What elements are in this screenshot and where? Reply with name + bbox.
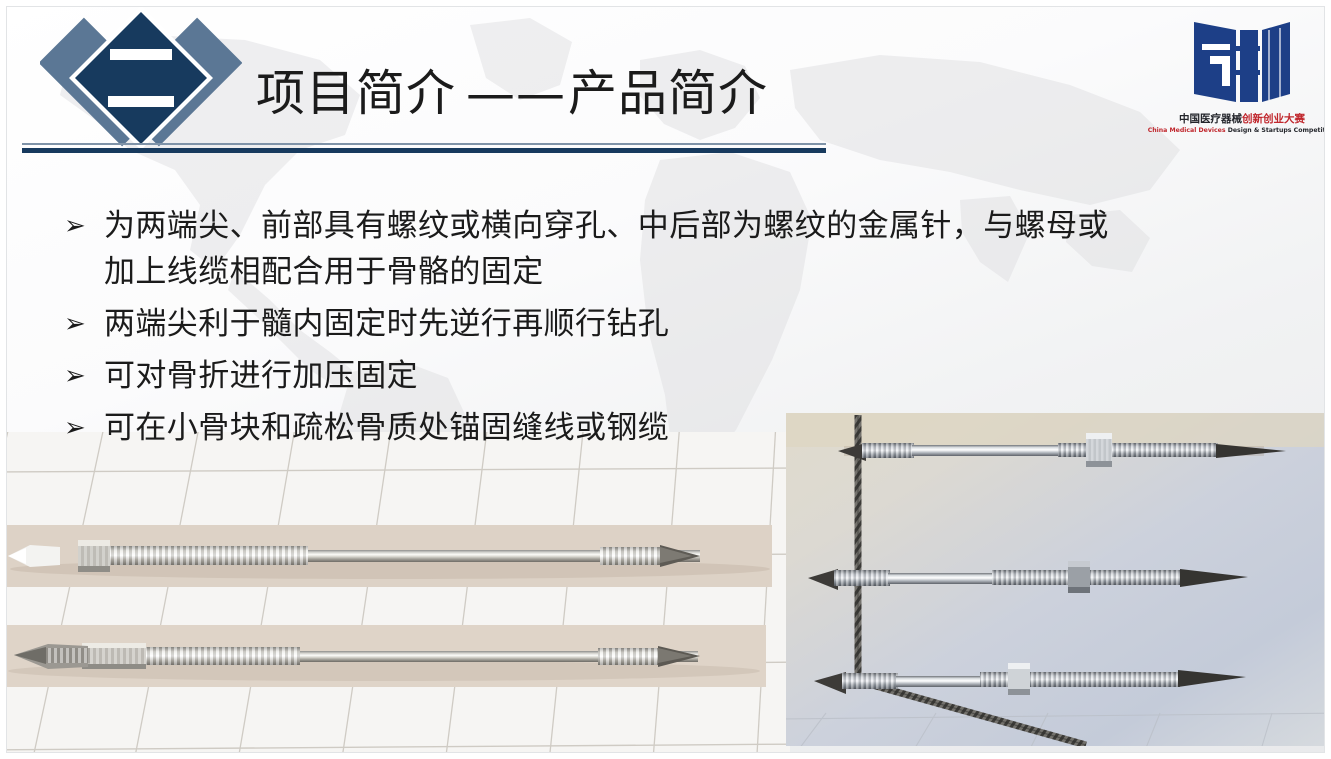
- competition-name-en-accent: China Medical Devices: [1148, 127, 1226, 134]
- bullet-text-line1: 两端尖利于髓内固定时先逆行再顺行钻孔: [104, 306, 669, 342]
- list-item: ➢ 可在小骨块和疏松骨质处锚固缝线或钢缆: [58, 405, 1218, 451]
- competition-name-cn: 中国医疗器械创新创业大赛: [1179, 113, 1305, 125]
- slide-root: 项目简介——产品简介: [0, 0, 1331, 759]
- bullet-text: 可在小骨块和疏松骨质处锚固缝线或钢缆: [104, 405, 1218, 451]
- bullet-arrow-icon: ➢: [58, 405, 104, 451]
- competition-logo: 中国医疗器械创新创业大赛 China Medical Devices Desig…: [1169, 16, 1315, 156]
- bullet-text-line1: 为两端尖、前部具有螺纹或横向穿孔、中后部为螺纹的金属针，与螺母或: [104, 208, 1109, 244]
- page-title-sub: 产品简介: [568, 65, 768, 122]
- diamond-emblem-logo: [40, 4, 242, 156]
- competition-name-en-plain: Design & Startups Competition: [1228, 127, 1331, 134]
- competition-name-en: China Medical Devices Design & Startups …: [1148, 127, 1331, 135]
- bullet-text-line1: 可在小骨块和疏松骨质处锚固缝线或钢缆: [104, 410, 669, 446]
- bullet-text: 为两端尖、前部具有螺纹或横向穿孔、中后部为螺纹的金属针，与螺母或 加上线缆相配合…: [104, 203, 1218, 295]
- page-title: 项目简介——产品简介: [256, 62, 768, 126]
- list-item: ➢ 可对骨折进行加压固定: [58, 353, 1218, 399]
- title-divider: [22, 143, 826, 153]
- page-title-separator: ——: [466, 65, 566, 122]
- threaded-pin-photo: [0, 625, 766, 687]
- bullet-list: ➢ 为两端尖、前部具有螺纹或横向穿孔、中后部为螺纹的金属针，与螺母或 加上线缆相…: [58, 203, 1218, 457]
- threaded-pin-with-nut-photo: [0, 525, 772, 587]
- competition-name-cn-accent: 创新创业大赛: [1242, 113, 1305, 125]
- bullet-text-line2: 加上线缆相配合用于骨骼的固定: [104, 249, 1218, 295]
- page-title-main: 项目简介: [256, 65, 456, 122]
- bullet-text: 两端尖利于髓内固定时先逆行再顺行钻孔: [104, 301, 1218, 347]
- open-door-icon: [1190, 16, 1294, 108]
- bullet-arrow-icon: ➢: [58, 203, 104, 249]
- bullet-text: 可对骨折进行加压固定: [104, 353, 1218, 399]
- bullet-arrow-icon: ➢: [58, 301, 104, 347]
- list-item: ➢ 两端尖利于髓内固定时先逆行再顺行钻孔: [58, 301, 1218, 347]
- bullet-text-line1: 可对骨折进行加压固定: [104, 358, 418, 394]
- bullet-arrow-icon: ➢: [58, 353, 104, 399]
- three-pins-with-cable-photo: [786, 413, 1331, 746]
- competition-name-cn-plain: 中国医疗器械: [1179, 113, 1242, 125]
- title-divider-thick-line: [22, 148, 826, 153]
- photo-floor-backdrop: [0, 432, 790, 759]
- list-item: ➢ 为两端尖、前部具有螺纹或横向穿孔、中后部为螺纹的金属针，与螺母或 加上线缆相…: [58, 203, 1218, 295]
